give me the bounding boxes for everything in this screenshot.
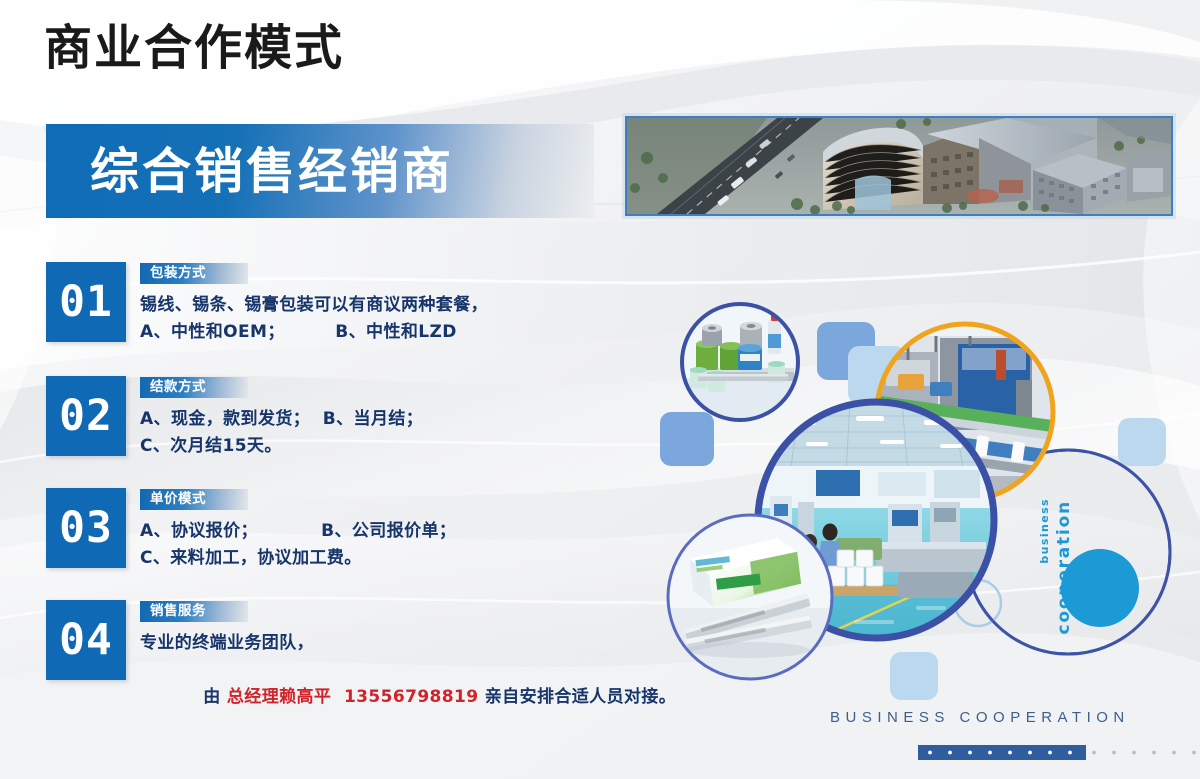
item-number-box: 01 — [46, 262, 126, 342]
solder-paste-products-photo — [682, 304, 800, 422]
list-item[interactable]: 04 销售服务 专业的终端业务团队， 由 总经理赖高平 13556798819 … — [46, 600, 676, 738]
item-tag: 单价模式 — [140, 489, 248, 510]
item-line: C、次月结15天。 — [140, 433, 423, 460]
item-number: 01 — [59, 281, 113, 324]
decor-square — [1118, 418, 1166, 466]
item-tag: 包装方式 — [140, 263, 248, 284]
item-number-box: 02 — [46, 376, 126, 456]
item-number: 02 — [59, 395, 113, 438]
item-number-box: 03 — [46, 488, 126, 568]
banner-title: 综合销售经销商 — [90, 147, 454, 196]
contact-prefix: 由 — [203, 687, 227, 707]
manager-title: 总经理赖高平 — [227, 687, 331, 707]
photo-collage — [640, 290, 1200, 710]
decor-square — [890, 652, 938, 700]
contact-suffix: 亲自安排合适人员对接。 — [478, 687, 676, 707]
item-line: A、协议报价； B、公司报价单； — [140, 518, 456, 545]
page-title: 商业合作模式 — [44, 22, 344, 75]
item-number-box: 04 — [46, 600, 126, 680]
aerial-campus-photo — [625, 116, 1173, 216]
phone-number[interactable]: 13556798819 — [344, 687, 479, 707]
item-number: 04 — [59, 619, 113, 662]
item-number: 03 — [59, 507, 113, 550]
list-item[interactable]: 03 单价模式 A、协议报价； B、公司报价单； C、来料加工，协议加工费。 — [46, 488, 456, 572]
item-line: 锡线、锡条、锡膏包装可以有商议两种套餐， — [140, 292, 488, 319]
vertical-business-label: business — [1038, 498, 1051, 564]
item-line: A、现金，款到发货； B、当月结； — [140, 406, 423, 433]
solder-bar-package-photo — [668, 515, 832, 679]
decor-square — [660, 412, 714, 466]
footer-title: BUSINESS COOPERATION — [830, 709, 1130, 726]
item-contact-line: 由 总经理赖高平 13556798819 亲自安排合适人员对接。 — [140, 657, 676, 738]
vertical-cooperation-label: cooperation — [1054, 500, 1074, 635]
item-tag: 结款方式 — [140, 377, 248, 398]
item-line: C、来料加工，协议加工费。 — [140, 545, 456, 572]
item-line: 专业的终端业务团队， — [140, 630, 676, 657]
footer-dot-bar — [918, 745, 1200, 760]
list-item[interactable]: 02 结款方式 A、现金，款到发货； B、当月结； C、次月结15天。 — [46, 376, 423, 460]
section-banner: 综合销售经销商 — [46, 124, 594, 218]
list-item[interactable]: 01 包装方式 锡线、锡条、锡膏包装可以有商议两种套餐， A、中性和OEM； B… — [46, 262, 488, 346]
item-tag: 销售服务 — [140, 601, 248, 622]
item-line: A、中性和OEM； B、中性和LZD — [140, 319, 488, 346]
